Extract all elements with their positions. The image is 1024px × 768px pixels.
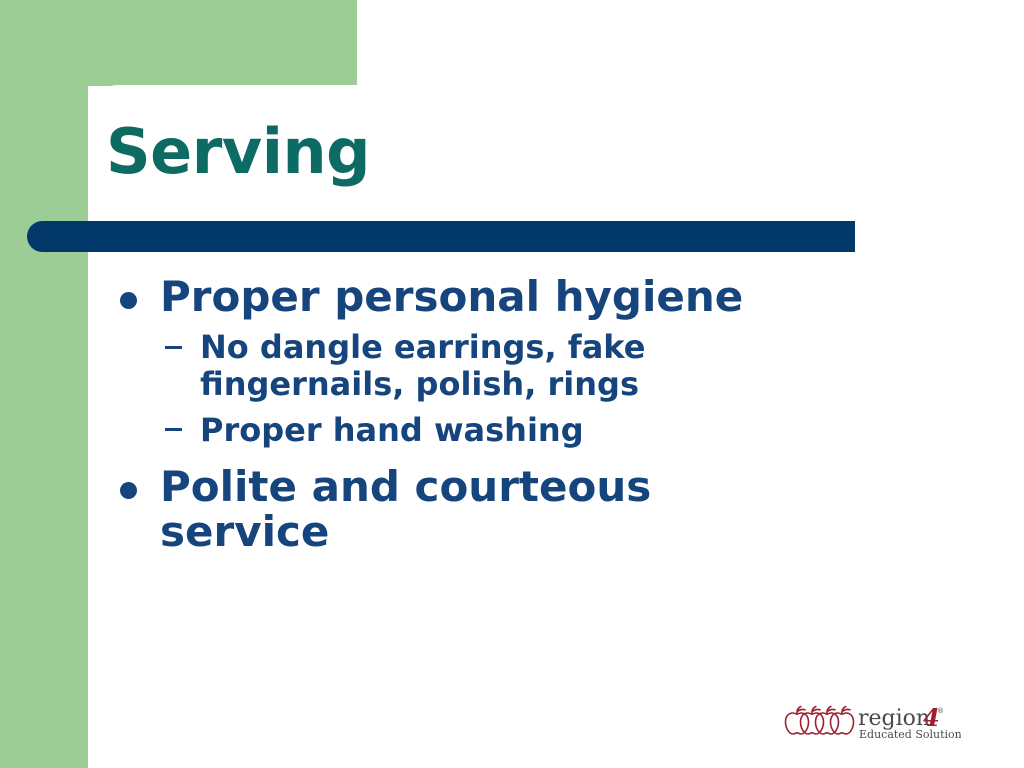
bullet-dash-icon [165,428,182,431]
navy-title-rule-bar [27,221,855,252]
bullet-item-level2-label: No dangle earrings, fake fingernails, po… [200,329,812,401]
green-top-block-decoration [0,0,357,86]
bullet-dash-icon [165,346,182,349]
bullet-sublist: No dangle earrings, fake fingernails, po… [112,329,812,447]
bullet-item-level1: Polite and courteous service [112,464,812,555]
logo-tagline: Educated Solutions [859,728,961,741]
bullet-dot-icon [120,292,137,309]
region4-logo: region 4 ® Educated Solutions [783,699,961,743]
bullet-item-level1-label: Polite and courteous service [160,464,812,555]
apple-cluster-icon [786,706,854,734]
green-left-strip-decoration [0,0,88,768]
bullet-item-level2-label: Proper hand washing [200,412,812,448]
slide-title: Serving [106,118,370,186]
presentation-slide: Serving Proper personal hygiene No dangl… [0,0,1024,768]
bullet-item-level2: Proper hand washing [112,412,812,448]
bullet-item-level1-label: Proper personal hygiene [160,274,812,319]
slide-body-content: Proper personal hygiene No dangle earrin… [112,274,812,559]
bullet-item-level2: No dangle earrings, fake fingernails, po… [112,329,812,401]
bullet-item-level1: Proper personal hygiene [112,274,812,319]
bullet-dot-icon [120,482,137,499]
registered-trademark-icon: ® [937,707,944,715]
